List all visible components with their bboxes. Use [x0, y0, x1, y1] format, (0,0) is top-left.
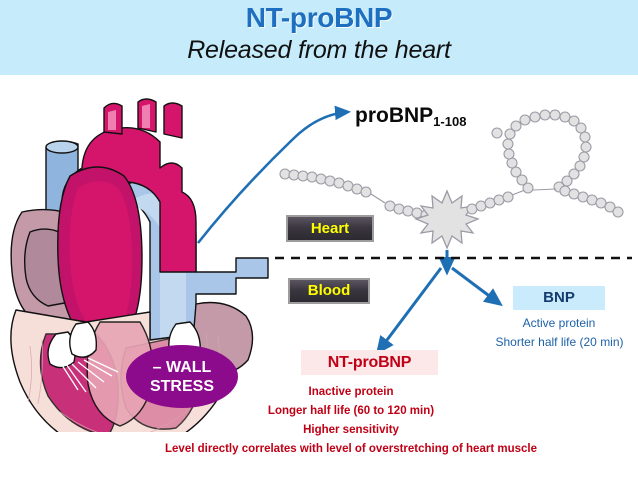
- bnp-note-active-protein: Active protein: [513, 316, 605, 330]
- subclavian-artery: [164, 103, 182, 138]
- probnp-label-subscript: 1-108: [433, 114, 466, 129]
- arrow-to-ntprobnp: [378, 268, 441, 352]
- page-subtitle: Released from the heart: [0, 36, 638, 65]
- cleavage-starburst-icon: [416, 191, 478, 248]
- bnp-note-half-life: Shorter half life (20 min): [487, 335, 632, 349]
- bnp-bead-chain: [467, 110, 623, 217]
- probnp-bead-chain: [280, 169, 431, 220]
- arrow-to-bnp: [452, 268, 500, 304]
- nt-probnp-note-sensitivity: Higher sensitivity: [0, 424, 638, 436]
- probnp-label-text: proBNP: [355, 104, 433, 127]
- nt-probnp-note-inactive-protein: Inactive protein: [0, 386, 638, 398]
- nt-probnp-box: NT-proBNP: [301, 350, 438, 375]
- probnp-label: proBNP1-108: [355, 104, 466, 128]
- nt-probnp-note-half-life: Longer half life (60 to 120 min): [0, 405, 638, 417]
- wall-stress-line-1: – WALL: [153, 358, 212, 377]
- mitral-valve: [70, 322, 97, 357]
- page-title: NT-proBNP: [0, 2, 638, 34]
- heart-compartment-badge: Heart: [286, 215, 374, 242]
- vena-cava-top: [46, 141, 78, 153]
- blood-compartment-badge: Blood: [288, 278, 370, 304]
- nt-probnp-note-correlation: Level directly correlates with level of …: [0, 443, 638, 455]
- wall-stress-callout: – WALL STRESS: [126, 345, 238, 408]
- bnp-box: BNP: [513, 286, 605, 310]
- wall-stress-line-2: STRESS: [150, 377, 214, 396]
